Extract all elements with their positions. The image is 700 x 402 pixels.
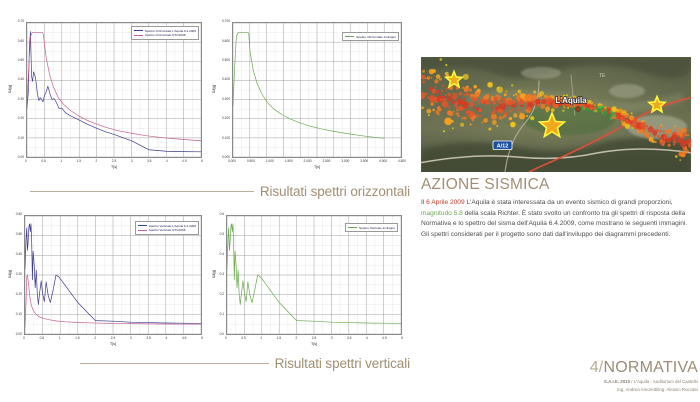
epicenter-dot	[443, 98, 446, 101]
epicenter-dot	[591, 105, 593, 107]
epicenter-dot	[682, 138, 684, 140]
chart-legend[interactable]: Spettro Orizzontale L'Aquila 6.4.2009Spe…	[131, 26, 199, 40]
epicenter-dot	[659, 126, 661, 128]
epicenter-dot	[466, 92, 469, 95]
epicenter-dot	[525, 103, 527, 105]
x-tick-label: 2.500	[317, 160, 335, 163]
highlight-date: 6 Aprile 2009	[426, 199, 465, 206]
epicenter-dot	[451, 120, 454, 123]
legend-color-swatch	[134, 30, 143, 31]
epicenter-dot	[659, 130, 662, 133]
y-tick-label: 0.70	[6, 20, 24, 23]
epicenter-dot	[519, 112, 521, 114]
y-tick-label: 0.4	[210, 253, 224, 256]
epicenter-dot	[679, 159, 681, 161]
epicenter-dot	[491, 96, 494, 99]
epicenter-dot	[538, 104, 540, 106]
x-tick-label: 0.000	[223, 160, 241, 163]
epicenter-dot	[649, 123, 651, 125]
epicenter-dot	[631, 123, 635, 127]
highlight-magnitude: magnitudo 5.8	[421, 210, 463, 217]
y-tick-label: 0.5	[210, 233, 224, 236]
epicenter-dot	[485, 118, 488, 121]
footer-event: S.A.I.E. 2010	[604, 379, 630, 384]
epicenter-dot	[504, 93, 507, 96]
epicenter-dot	[540, 94, 542, 96]
epicenter-dot	[668, 144, 671, 147]
epicenter-dot	[527, 106, 531, 110]
epicenter-dot	[515, 93, 517, 95]
epicenter-dot	[570, 105, 573, 108]
epicenter-dot	[463, 94, 465, 96]
seismic-map-image: L'Aquila A/12 TE	[421, 57, 691, 172]
epicenter-dot	[432, 69, 436, 73]
legend-color-swatch	[134, 35, 143, 36]
epicenter-dot	[648, 126, 654, 132]
epicenter-dot	[512, 104, 515, 107]
x-tick-label: 0.5	[33, 337, 51, 340]
plot-canvas	[227, 216, 401, 334]
epicenter-dot	[517, 109, 519, 111]
epicenter-dot	[437, 113, 440, 116]
footer-section-name: NORMATIVA	[603, 359, 698, 376]
y-axis-label: Sd[g]	[212, 264, 216, 284]
legend-entry[interactable]: Spettro Verticale NTC2008	[138, 228, 196, 232]
plot-area	[232, 22, 402, 158]
epicenter-dot	[562, 109, 564, 111]
x-axis-label: T[s]	[26, 165, 202, 169]
epicenter-dot	[683, 148, 686, 151]
epicenter-dot	[422, 80, 425, 83]
epicenter-dot	[499, 104, 501, 106]
chart-legend[interactable]: Spettro Orizzontale Inviluppo	[342, 32, 399, 41]
caption-horizontal: Risultati spettri orizzontali	[30, 180, 410, 202]
epicenter-dot	[547, 98, 550, 101]
epicenter-dot	[425, 78, 427, 80]
caption-vertical-label: Risultati spettri verticali	[275, 356, 410, 371]
x-tick-label: 2	[287, 337, 305, 340]
y-axis-label: Sd[g]	[8, 264, 12, 284]
epicenter-dot	[500, 110, 503, 113]
epicenter-dot	[625, 115, 627, 117]
y-tick-label: 0.1	[210, 313, 224, 316]
seismic-map-svg: L'Aquila A/12 TE	[421, 57, 691, 172]
legend-color-swatch	[348, 227, 357, 228]
epicenter-dot	[525, 107, 527, 109]
epicenter-dot	[448, 106, 450, 108]
chart-vertical-comparison[interactable]: 0.000.100.200.300.400.500.6000.511.522.5…	[6, 205, 206, 355]
epicenter-dot	[445, 94, 447, 96]
y-tick-label: 0.700	[210, 20, 230, 23]
epicenter-dot	[589, 100, 591, 102]
right-column: L'Aquila A/12 TE AZIONE SISMICA Il 6 Apr…	[421, 0, 700, 402]
epicenter-dot	[485, 101, 488, 104]
epicenter-dot	[632, 120, 634, 122]
x-tick-label: 0	[17, 160, 35, 163]
epicenter-dot	[440, 98, 443, 101]
epicenter-dot	[428, 114, 430, 116]
x-tick-label: 0	[15, 337, 33, 340]
epicenter-dot	[663, 130, 665, 132]
caption-horizontal-label: Risultati spettri orizzontali	[260, 184, 410, 199]
x-tick-label: 1.5	[68, 337, 86, 340]
epicenter-dot	[441, 90, 443, 92]
epicenter-dot	[535, 112, 537, 114]
x-tick-label: 4.500	[393, 160, 411, 163]
epicenter-dot	[541, 97, 543, 99]
epicenter-dot	[521, 102, 523, 104]
x-tick-label: 1.5	[270, 337, 288, 340]
map-city-label: L'Aquila	[555, 96, 587, 105]
epicenter-dot	[432, 109, 435, 112]
epicenter-dot	[445, 64, 447, 66]
epicenter-dot	[469, 102, 474, 107]
epicenter-dot	[674, 140, 676, 142]
epicenter-dot	[507, 100, 513, 106]
epicenter-dot	[666, 134, 668, 136]
legend-color-swatch	[138, 225, 147, 226]
x-tick-label: 4.000	[374, 160, 392, 163]
epicenter-dot	[497, 87, 499, 89]
epicenter-dot	[449, 112, 453, 116]
epicenter-dot	[510, 122, 516, 128]
epicenter-dot	[422, 70, 425, 73]
chart-horizontal-comparison[interactable]: 0.000.100.200.300.400.500.600.7000.511.5…	[6, 12, 206, 180]
epicenter-dot	[463, 108, 465, 110]
x-tick-label: 3	[122, 337, 140, 340]
epicenter-dot	[452, 93, 458, 99]
epicenter-dot	[496, 125, 498, 127]
epicenter-dot	[439, 58, 442, 61]
epicenter-dot	[498, 116, 502, 120]
y-tick-label: 0.40	[6, 253, 22, 256]
epicenter-dot	[625, 124, 630, 129]
y-tick-label: 0.60	[6, 213, 22, 216]
epicenter-dot	[608, 116, 610, 118]
x-axis-label: T[s]	[24, 342, 202, 346]
x-tick-label: 2.000	[299, 160, 317, 163]
x-tick-label: 4	[158, 160, 176, 163]
epicenter-dot	[460, 123, 464, 127]
epicenter-dot	[492, 101, 495, 104]
epicenter-dot	[494, 97, 498, 101]
epicenter-dot	[504, 112, 508, 116]
epicenter-dot	[464, 87, 469, 92]
epicenter-dot	[603, 108, 606, 111]
plot-canvas	[27, 23, 201, 157]
epicenter-dot	[551, 108, 555, 112]
epicenter-dot	[591, 103, 593, 105]
epicenter-dot	[495, 107, 497, 109]
x-tick-label: 2.5	[105, 160, 123, 163]
caption-rule-vertical	[80, 363, 269, 364]
legend-color-swatch	[345, 36, 354, 37]
epicenter-dot	[440, 93, 442, 95]
epicenter-dot	[469, 88, 472, 91]
epicenter-dot	[630, 117, 634, 121]
epicenter-dot	[430, 102, 433, 105]
epicenter-dot	[533, 91, 536, 94]
epicenter-dot	[567, 107, 569, 109]
epicenter-dot	[598, 106, 601, 109]
epicenter-dot	[452, 111, 454, 113]
epicenter-dot	[685, 134, 687, 136]
y-tick-label: 0.50	[6, 233, 22, 236]
epicenter-dot	[517, 90, 521, 94]
epicenter-dot	[438, 108, 441, 111]
epicenter-dot	[671, 134, 677, 140]
epicenter-dot	[464, 101, 468, 105]
x-axis-label: T[s]	[226, 342, 402, 346]
epicenter-dot	[443, 130, 445, 132]
epicenter-dot	[519, 113, 525, 119]
text-part-2: L'Aquila è stata interessata da un event…	[465, 199, 673, 206]
epicenter-dot	[457, 112, 459, 114]
epicenter-dot	[436, 74, 441, 79]
x-tick-label: 2.5	[305, 337, 323, 340]
epicenter-dot	[435, 92, 437, 94]
epicenter-dot	[535, 99, 541, 105]
epicenter-dot	[474, 106, 476, 108]
epicenter-dot	[616, 116, 619, 119]
y-tick-label: 0.500	[210, 59, 230, 62]
epicenter-dot	[447, 92, 450, 95]
epicenter-dot	[652, 140, 655, 143]
x-tick-label: 2	[87, 160, 105, 163]
epicenter-dot	[456, 109, 458, 111]
epicenter-dot	[422, 106, 424, 108]
epicenter-dot	[492, 120, 497, 125]
x-tick-label: 4.5	[375, 337, 393, 340]
chart-vertical-envelope[interactable]: 0.00.10.20.30.40.50.600.511.522.533.544.…	[210, 205, 406, 355]
epicenter-dot	[451, 101, 455, 105]
epicenter-dot	[661, 134, 664, 137]
epicenter-dot	[512, 100, 516, 104]
epicenter-dot	[442, 85, 444, 87]
y-axis-label: Sd[g]	[8, 79, 12, 99]
epicenter-dot	[678, 140, 680, 142]
epicenter-dot	[513, 113, 518, 118]
epicenter-dot	[520, 105, 522, 107]
plot-area	[226, 215, 402, 335]
epicenter-dot	[533, 102, 535, 104]
epicenter-dot	[669, 129, 671, 131]
epicenter-dot	[640, 122, 646, 128]
epicenter-dot	[545, 106, 550, 111]
plot-canvas	[233, 23, 401, 157]
epicenter-dot	[631, 112, 633, 114]
epicenter-dot	[509, 117, 512, 120]
x-tick-label: 4	[157, 337, 175, 340]
epicenter-dot	[473, 93, 478, 98]
chart-horizontal-envelope[interactable]: 0.0000.1000.2000.3000.4000.5000.6000.700…	[210, 12, 406, 180]
y-axis-label: Sd[g]	[212, 79, 216, 99]
slide-root: 0.000.100.200.300.400.500.600.7000.511.5…	[0, 0, 700, 402]
x-tick-label: 2.5	[104, 337, 122, 340]
epicenter-dot	[487, 94, 489, 96]
epicenter-dot	[563, 106, 565, 108]
footer-line-1: S.A.I.E. 2010 / L'Aquila - Auditorium de…	[590, 379, 698, 386]
epicenter-dot	[491, 111, 494, 114]
epicenter-dot	[482, 102, 484, 104]
epicenter-dot	[594, 109, 597, 112]
epicenter-dot	[513, 94, 515, 96]
epicenter-dot	[528, 111, 530, 113]
x-tick-label: 0.5	[35, 160, 53, 163]
y-tick-label: 0.6	[210, 213, 224, 216]
epicenter-dot	[594, 104, 596, 106]
footer-venue: / L'Aquila - Auditorium del Castello	[630, 379, 698, 384]
x-tick-label: 1.5	[70, 160, 88, 163]
x-tick-label: 5	[193, 160, 211, 163]
body-paragraph: Il 6 Aprile 2009 L'Aquila è stata intere…	[421, 198, 689, 241]
epicenter-dot	[687, 134, 689, 136]
epicenter-dot	[468, 111, 475, 118]
y-tick-label: 0.10	[6, 137, 24, 140]
x-tick-label: 1.500	[280, 160, 298, 163]
epicenter-dot	[502, 98, 506, 102]
epicenter-dot	[526, 101, 528, 103]
epicenter-dot	[444, 117, 452, 125]
legend-label: Spettro Verticale Inviluppo	[359, 226, 395, 230]
epicenter-dot	[488, 128, 491, 131]
epicenter-dot	[452, 127, 454, 129]
x-tick-label: 1	[252, 337, 270, 340]
epicenter-dot	[588, 105, 590, 107]
epicenter-dot	[505, 101, 507, 103]
x-tick-label: 1.000	[261, 160, 279, 163]
x-tick-label: 3.5	[140, 337, 158, 340]
epicenter-dot	[611, 106, 617, 112]
epicenter-dot	[426, 109, 431, 114]
epicenter-dot	[442, 101, 449, 108]
epicenter-dot	[427, 96, 429, 98]
epicenter-dot	[479, 115, 481, 117]
epicenter-dot	[450, 97, 453, 100]
x-tick-label: 3.000	[336, 160, 354, 163]
epicenter-dot	[427, 76, 430, 79]
epicenter-dot	[429, 87, 433, 91]
epicenter-dot	[585, 107, 589, 111]
epicenter-dot	[481, 122, 483, 124]
chart-legend[interactable]: Spettro Verticale L'Aquila 6.4.2009Spett…	[135, 221, 199, 235]
y-tick-label: 0.2	[210, 293, 224, 296]
epicenter-dot	[470, 94, 474, 98]
epicenter-dot	[502, 116, 504, 118]
epicenter-dot	[501, 103, 503, 105]
epicenter-dot	[680, 134, 683, 137]
epicenter-dot	[637, 120, 639, 122]
epicenter-dot	[434, 79, 438, 83]
chart-legend[interactable]: Spettro Verticale Inviluppo	[345, 223, 398, 232]
epicenter-dot	[675, 155, 678, 158]
epicenter-dot	[597, 108, 601, 112]
epicenter-dot	[530, 116, 534, 120]
map-alt-label: TE	[599, 73, 606, 79]
y-tick-label: 0.60	[6, 40, 24, 43]
map-road-shield: A/12	[493, 141, 512, 150]
x-tick-label: 4.5	[175, 160, 193, 163]
epicenter-dot	[509, 110, 512, 113]
x-tick-label: 3	[123, 160, 141, 163]
epicenter-dot	[673, 144, 675, 146]
epicenter-dot	[473, 85, 477, 89]
x-tick-label: 4.5	[175, 337, 193, 340]
x-tick-label: 0	[217, 337, 235, 340]
epicenter-dot	[526, 115, 528, 117]
x-axis-label: T[s]	[232, 165, 402, 169]
epicenter-dot	[613, 114, 616, 117]
y-tick-label: 0.600	[210, 40, 230, 43]
epicenter-dot	[459, 92, 463, 96]
plot-area	[26, 22, 202, 158]
epicenter-dot	[605, 111, 608, 114]
epicenter-dot	[478, 109, 481, 112]
epicenter-dot	[655, 141, 657, 143]
epicenter-dot	[535, 104, 537, 106]
epicenter-dot	[435, 86, 437, 88]
epicenter-dot	[464, 117, 467, 120]
y-tick-label: 0.10	[6, 313, 22, 316]
y-tick-label: 0.20	[6, 293, 22, 296]
epicenter-dot	[606, 108, 608, 110]
slide-footer: 4/NORMATIVA S.A.I.E. 2010 / L'Aquila - A…	[590, 360, 698, 394]
legend-entry[interactable]: Spettro Orizzontale Inviluppo	[345, 35, 396, 39]
epicenter-dot	[491, 107, 493, 109]
epicenter-dot	[649, 137, 653, 141]
epicenter-dot	[526, 94, 533, 101]
x-tick-label: 1	[52, 160, 70, 163]
legend-color-swatch	[138, 230, 147, 231]
legend-entry[interactable]: Spettro Orizzontale NTC2008	[134, 33, 196, 37]
city-marker-laquila	[576, 107, 581, 112]
epicenter-dot	[674, 125, 676, 127]
x-tick-label: 1	[51, 337, 69, 340]
x-tick-label: 0.5	[235, 337, 253, 340]
epicenter-dot	[628, 120, 630, 122]
caption-rule-horizontal	[30, 191, 254, 192]
epicenter-dot	[470, 124, 472, 126]
y-tick-label: 0.100	[210, 137, 230, 140]
x-tick-label: 3.500	[355, 160, 373, 163]
epicenter-dot	[541, 99, 546, 104]
epicenter-dot	[461, 117, 464, 120]
epicenter-dot	[518, 99, 520, 101]
epicenter-dot	[478, 102, 480, 104]
legend-entry[interactable]: Spettro Verticale Inviluppo	[348, 226, 395, 230]
x-tick-label: 5	[193, 337, 211, 340]
epicenter-dot	[463, 98, 465, 100]
epicenter-dot	[511, 108, 513, 110]
epicenter-dot	[457, 115, 459, 117]
footer-number: 4	[590, 359, 599, 376]
epicenter-dot	[657, 130, 659, 132]
epicenter-dot	[426, 93, 428, 95]
legend-label: Spettro Verticale NTC2008	[149, 228, 186, 232]
epicenter-dot	[657, 135, 660, 138]
epicenter-dot	[676, 127, 679, 130]
epicenter-dot	[521, 105, 523, 107]
epicenter-dot	[505, 90, 507, 92]
footer-title: 4/NORMATIVA	[590, 360, 698, 377]
epicenter-dot	[623, 111, 625, 113]
x-tick-label: 0.500	[242, 160, 260, 163]
epicenter-dot	[621, 120, 623, 122]
epicenter-dot	[664, 137, 667, 140]
epicenter-dot	[643, 131, 647, 135]
epicenter-dot	[631, 127, 633, 129]
svg-text:A/12: A/12	[497, 144, 509, 150]
